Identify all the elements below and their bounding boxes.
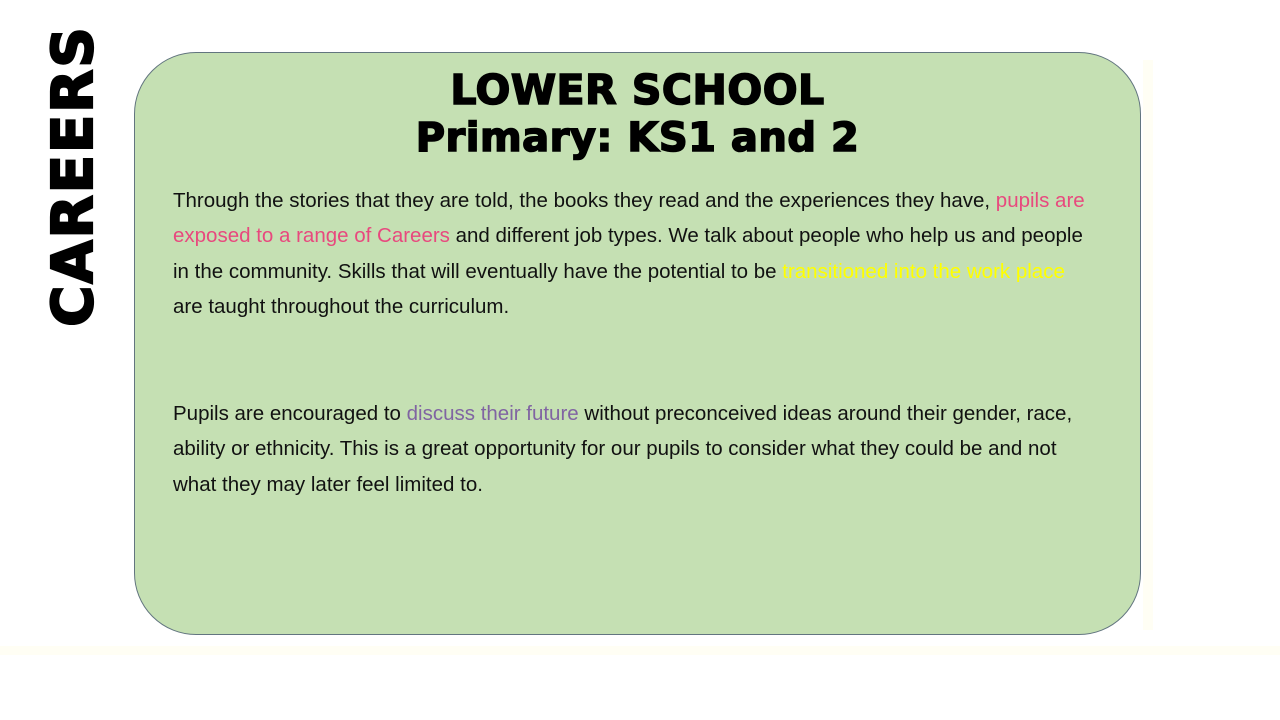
paragraph-two: Pupils are encouraged to discuss their f… bbox=[173, 396, 1096, 503]
paragraph-one-segment-1: Through the stories that they are told, … bbox=[173, 189, 996, 212]
card-body: Through the stories that they are told, … bbox=[173, 183, 1096, 503]
slide-canvas: CAREERS LOWER SCHOOL Primary: KS1 and 2 … bbox=[0, 0, 1280, 720]
page-edge-bottom bbox=[0, 646, 1280, 655]
paragraph-two-highlight-purple: discuss their future bbox=[407, 402, 579, 425]
content-card: LOWER SCHOOL Primary: KS1 and 2 Through … bbox=[134, 52, 1141, 635]
vertical-section-label-text: CAREERS bbox=[46, 25, 102, 327]
vertical-section-label: CAREERS bbox=[0, 28, 148, 324]
paragraph-one-segment-5: are taught throughout the curriculum. bbox=[173, 295, 509, 318]
card-title: LOWER SCHOOL Primary: KS1 and 2 bbox=[135, 67, 1140, 161]
page-edge-right bbox=[1143, 60, 1153, 630]
card-title-line-1: LOWER SCHOOL bbox=[135, 67, 1140, 115]
paragraph-one-highlight-yellow: transitioned into the work place bbox=[782, 260, 1065, 283]
paragraph-one: Through the stories that they are told, … bbox=[173, 183, 1096, 325]
card-title-line-2: Primary: KS1 and 2 bbox=[135, 115, 1140, 161]
paragraph-two-segment-1: Pupils are encouraged to bbox=[173, 402, 407, 425]
